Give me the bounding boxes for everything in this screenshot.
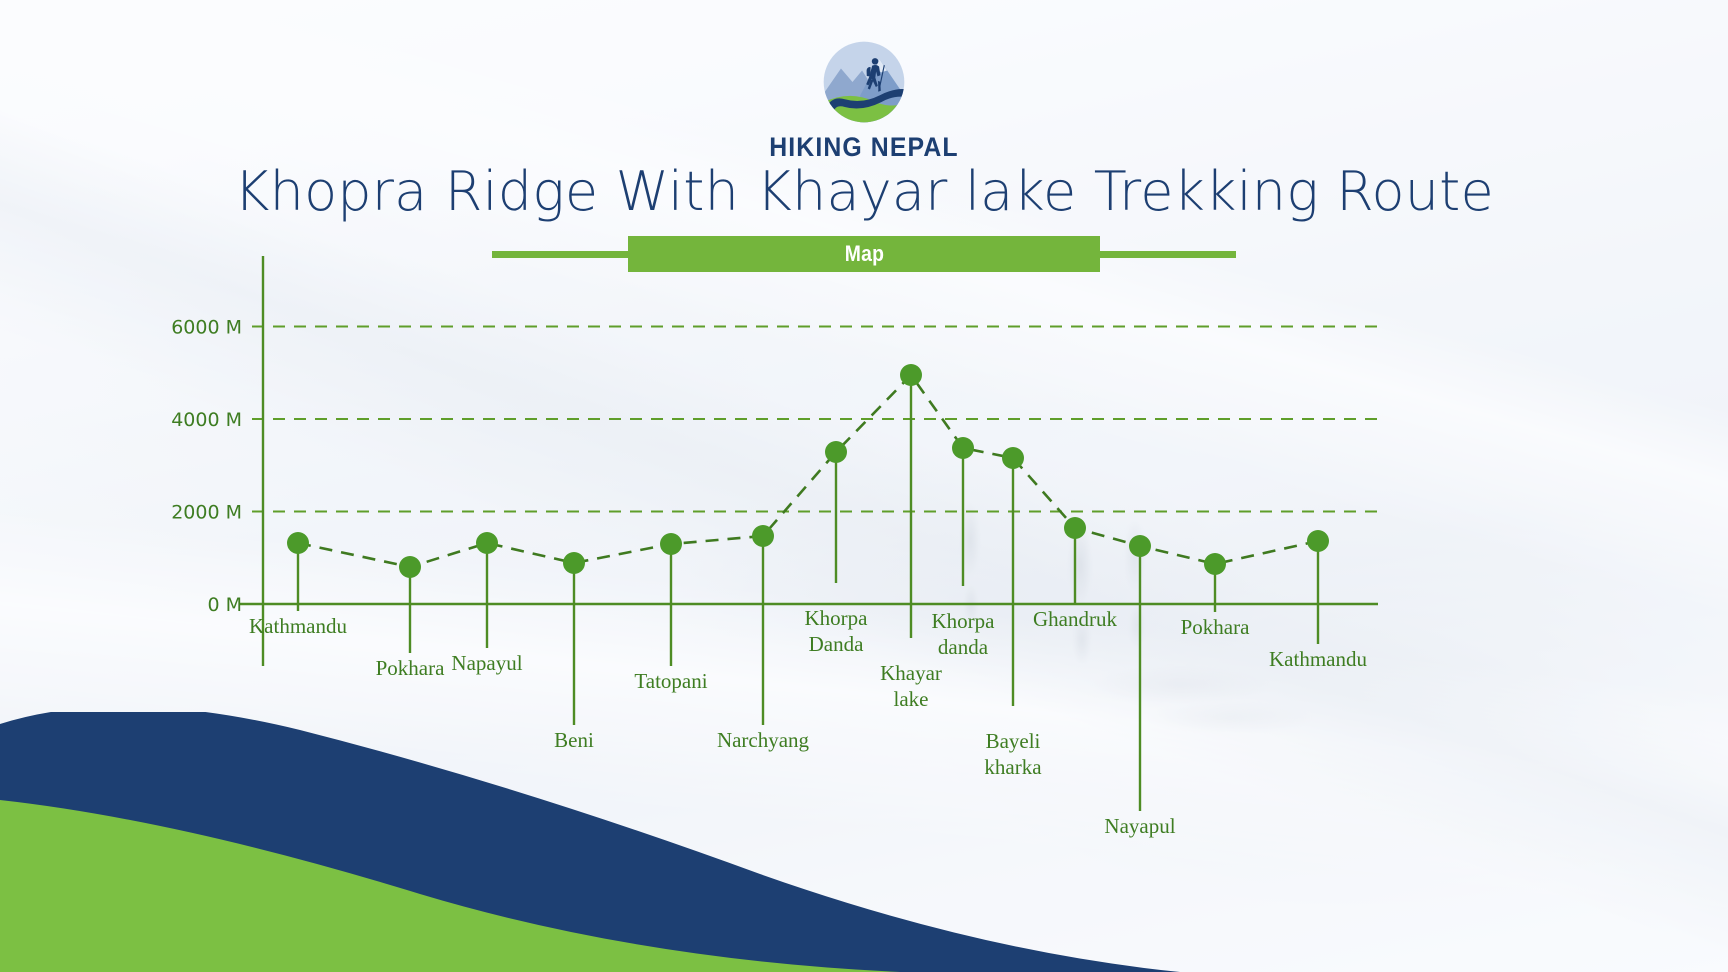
chart-data-points xyxy=(287,364,1329,578)
point-label-line: Pokhara xyxy=(376,656,445,680)
point-label-line: danda xyxy=(938,635,989,659)
point-label: Nayapul xyxy=(1104,814,1175,838)
point-label-line: Tatopani xyxy=(634,669,707,693)
infographic-page: HIKING NEPAL Khopra Ridge With Khayar la… xyxy=(0,0,1728,972)
chart-gridlines xyxy=(252,327,1378,512)
data-point-dot[interactable] xyxy=(900,364,922,386)
y-tick-label-6000: 6000 M xyxy=(171,317,242,339)
point-label-line: lake xyxy=(894,687,929,711)
point-label-line: Kathmandu xyxy=(249,614,347,638)
point-label: Tatopani xyxy=(634,669,707,693)
data-point-dot[interactable] xyxy=(287,532,309,554)
point-label-line: Narchyang xyxy=(717,728,810,752)
elevation-series-line xyxy=(298,375,1318,567)
data-point-dot[interactable] xyxy=(660,533,682,555)
point-label-line: Kathmandu xyxy=(1269,647,1367,671)
point-label: Bayelikharka xyxy=(984,729,1042,779)
point-label-line: Khorpa xyxy=(805,606,869,630)
y-tick-label-2000: 2000 M xyxy=(171,502,242,524)
point-label-line: Nayapul xyxy=(1104,814,1175,838)
point-label-line: Ghandruk xyxy=(1033,607,1117,631)
point-label-line: Khayar xyxy=(880,661,942,685)
point-label: Pokhara xyxy=(376,656,445,680)
data-point-dot[interactable] xyxy=(1204,553,1226,575)
data-point-dot[interactable] xyxy=(1129,535,1151,557)
point-label-line: Khorpa xyxy=(932,609,996,633)
point-label: Khorpadanda xyxy=(932,609,996,659)
point-label: Kathmandu xyxy=(249,614,347,638)
data-point-dot[interactable] xyxy=(399,556,421,578)
data-point-dot[interactable] xyxy=(476,532,498,554)
y-tick-label-0: 0 M xyxy=(207,594,242,616)
point-label-line: Beni xyxy=(554,728,594,752)
point-label-line: Danda xyxy=(809,632,864,656)
point-label: Ghandruk xyxy=(1033,607,1117,631)
point-label-line: kharka xyxy=(984,755,1042,779)
data-point-dot[interactable] xyxy=(952,437,974,459)
point-label: Pokhara xyxy=(1181,615,1250,639)
data-point-dot[interactable] xyxy=(1307,530,1329,552)
point-label: Khayarlake xyxy=(880,661,942,711)
point-label: Beni xyxy=(554,728,594,752)
point-label: Narchyang xyxy=(717,728,810,752)
data-point-dot[interactable] xyxy=(563,552,585,574)
point-label: Napayul xyxy=(451,651,522,675)
point-label-line: Bayeli xyxy=(986,729,1041,753)
y-tick-label-4000: 4000 M xyxy=(171,409,242,431)
point-label: Kathmandu xyxy=(1269,647,1367,671)
point-label-line: Napayul xyxy=(451,651,522,675)
point-label-line: Pokhara xyxy=(1181,615,1250,639)
data-point-dot[interactable] xyxy=(1002,447,1024,469)
elevation-profile-chart: 0 M2000 M4000 M6000 M KathmanduPokharaNa… xyxy=(0,0,1728,972)
data-point-dot[interactable] xyxy=(1064,517,1086,539)
data-point-dot[interactable] xyxy=(752,525,774,547)
point-label: KhorpaDanda xyxy=(805,606,869,656)
data-point-dot[interactable] xyxy=(825,441,847,463)
chart-point-labels: KathmanduPokharaNapayulBeniTatopaniNarch… xyxy=(249,606,1367,838)
y-axis-tick-labels: 0 M2000 M4000 M6000 M xyxy=(171,317,242,617)
